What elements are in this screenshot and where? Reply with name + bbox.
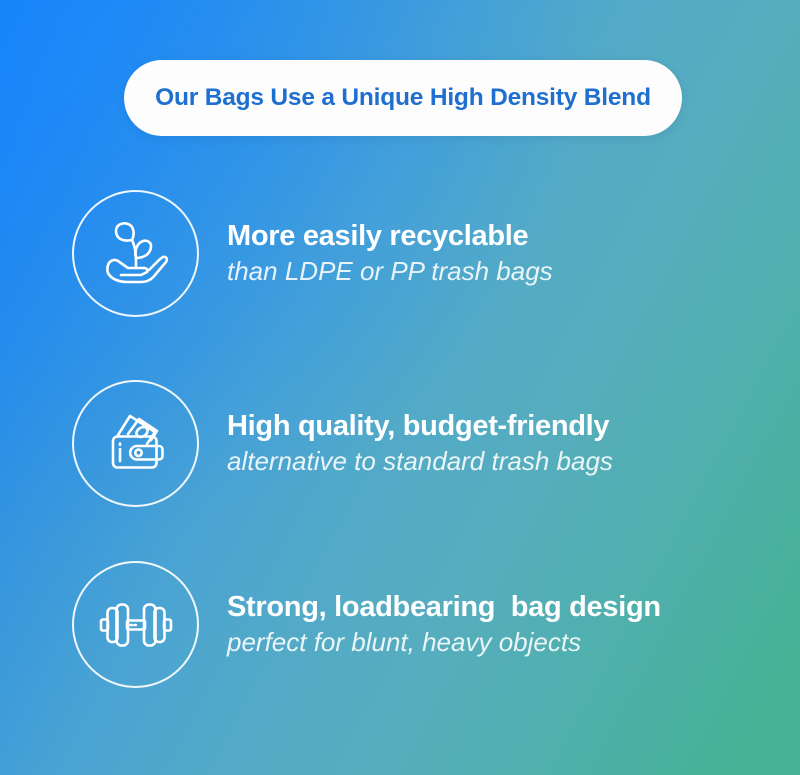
feature-item-recyclable: More easily recyclable than LDPE or PP t…: [72, 190, 553, 317]
feature-item-strong: Strong, loadbearing bag design perfect f…: [72, 561, 661, 688]
feature-text-block: Strong, loadbearing bag design perfect f…: [227, 591, 661, 658]
header-pill: Our Bags Use a Unique High Density Blend: [124, 60, 682, 136]
feature-text-block: More easily recyclable than LDPE or PP t…: [227, 220, 553, 287]
feature-subtitle: than LDPE or PP trash bags: [227, 256, 553, 287]
feature-subtitle: perfect for blunt, heavy objects: [227, 627, 661, 658]
feature-subtitle: alternative to standard trash bags: [227, 446, 613, 477]
feature-icon-badge: [72, 380, 199, 507]
feature-text-block: High quality, budget-friendly alternativ…: [227, 410, 613, 477]
plant-in-hand-icon: [97, 215, 175, 293]
page-title: Our Bags Use a Unique High Density Blend: [155, 84, 651, 112]
feature-icon-badge: [72, 561, 199, 688]
feature-icon-badge: [72, 190, 199, 317]
promotional-infographic: Our Bags Use a Unique High Density Blend: [0, 0, 800, 775]
feature-title: Strong, loadbearing bag design: [227, 591, 661, 623]
dumbbell-icon: [96, 585, 176, 665]
feature-item-budget: High quality, budget-friendly alternativ…: [72, 380, 613, 507]
feature-title: More easily recyclable: [227, 220, 553, 252]
feature-title: High quality, budget-friendly: [227, 410, 613, 442]
wallet-with-cash-icon: [97, 405, 175, 483]
